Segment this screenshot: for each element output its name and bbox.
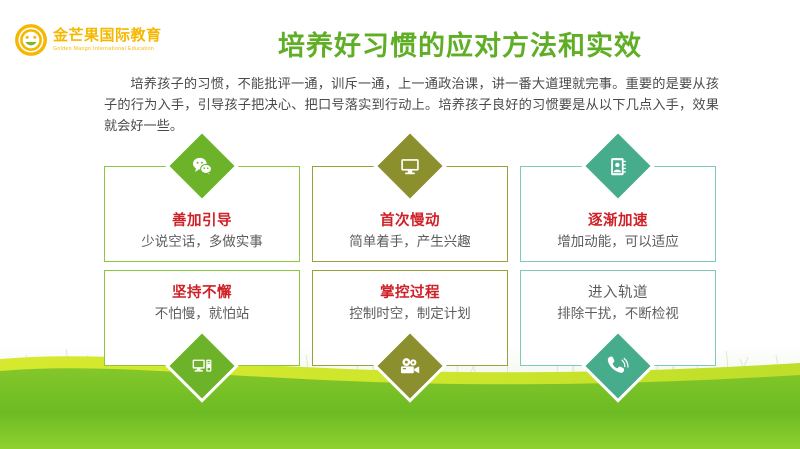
card-title: 掌控过程 [313, 283, 507, 303]
card-title: 善加引导 [105, 211, 299, 231]
card-subtitle: 排除干扰，不断检视 [521, 304, 715, 325]
intro-paragraph: 培养孩子的习惯，不能批评一通，训斥一通，上一通政治课，讲一番大道理就完事。重要的… [104, 74, 719, 137]
desktop-computer-icon [191, 355, 213, 377]
card-zhang-kong-guo-cheng[interactable]: 掌控过程 控制时空，制定计划 [312, 270, 508, 366]
phone-ringing-icon [607, 355, 630, 378]
film-camera-icon [399, 355, 422, 378]
card-jin-ru-gui-dao[interactable]: 进入轨道 排除干扰，不断检视 [520, 270, 716, 366]
cards-grid: 善加引导 少说空话，多做实事 首次慢动 [104, 166, 716, 366]
slide-header: 金芒果国际教育 Golden Mango International Educa… [0, 0, 800, 72]
card-title: 首次慢动 [313, 211, 507, 231]
card-zhu-jian-jia-su[interactable]: 逐渐加速 增加动能，可以适应 [520, 166, 716, 262]
card-title: 坚持不懈 [105, 283, 299, 303]
card-badge [377, 333, 442, 398]
card-shou-ci-man-dong[interactable]: 首次慢动 简单着手，产生兴趣 [312, 166, 508, 262]
card-shan-jia-yin-dao[interactable]: 善加引导 少说空话，多做实事 [104, 166, 300, 262]
monitor-icon [399, 155, 421, 177]
card-title: 进入轨道 [521, 283, 715, 303]
card-texts: 坚持不懈 不怕慢，就怕站 [105, 283, 299, 325]
card-badge [377, 133, 442, 198]
card-subtitle: 少说空话，多做实事 [105, 232, 299, 253]
card-badge [585, 333, 650, 398]
address-book-icon [608, 156, 629, 177]
card-subtitle: 控制时空，制定计划 [313, 304, 507, 325]
card-texts: 逐渐加速 增加动能，可以适应 [521, 211, 715, 253]
page-title-text: 培养好习惯的应对方法和实效 [158, 24, 642, 63]
card-texts: 进入轨道 排除干扰，不断检视 [521, 283, 715, 325]
page-title: 培养好习惯的应对方法和实效 [0, 24, 800, 63]
intro-text: 培养孩子的习惯，不能批评一通，训斥一通，上一通政治课，讲一番大道理就完事。重要的… [104, 74, 719, 137]
card-badge [585, 133, 650, 198]
cards-row-2: 坚持不懈 不怕慢，就怕站 [104, 270, 716, 366]
slide-canvas: 金芒果国际教育 Golden Mango International Educa… [0, 0, 800, 449]
card-texts: 掌控过程 控制时空，制定计划 [313, 283, 507, 325]
card-badge [169, 333, 234, 398]
card-title: 逐渐加速 [521, 211, 715, 231]
cards-row-1: 善加引导 少说空话，多做实事 首次慢动 [104, 166, 716, 262]
card-subtitle: 简单着手，产生兴趣 [313, 232, 507, 253]
card-badge [169, 133, 234, 198]
card-texts: 善加引导 少说空话，多做实事 [105, 211, 299, 253]
chat-bubbles-icon [191, 155, 213, 177]
card-subtitle: 不怕慢，就怕站 [105, 304, 299, 325]
card-jian-chi-bu-xie[interactable]: 坚持不懈 不怕慢，就怕站 [104, 270, 300, 366]
card-subtitle: 增加动能，可以适应 [521, 232, 715, 253]
card-texts: 首次慢动 简单着手，产生兴趣 [313, 211, 507, 253]
